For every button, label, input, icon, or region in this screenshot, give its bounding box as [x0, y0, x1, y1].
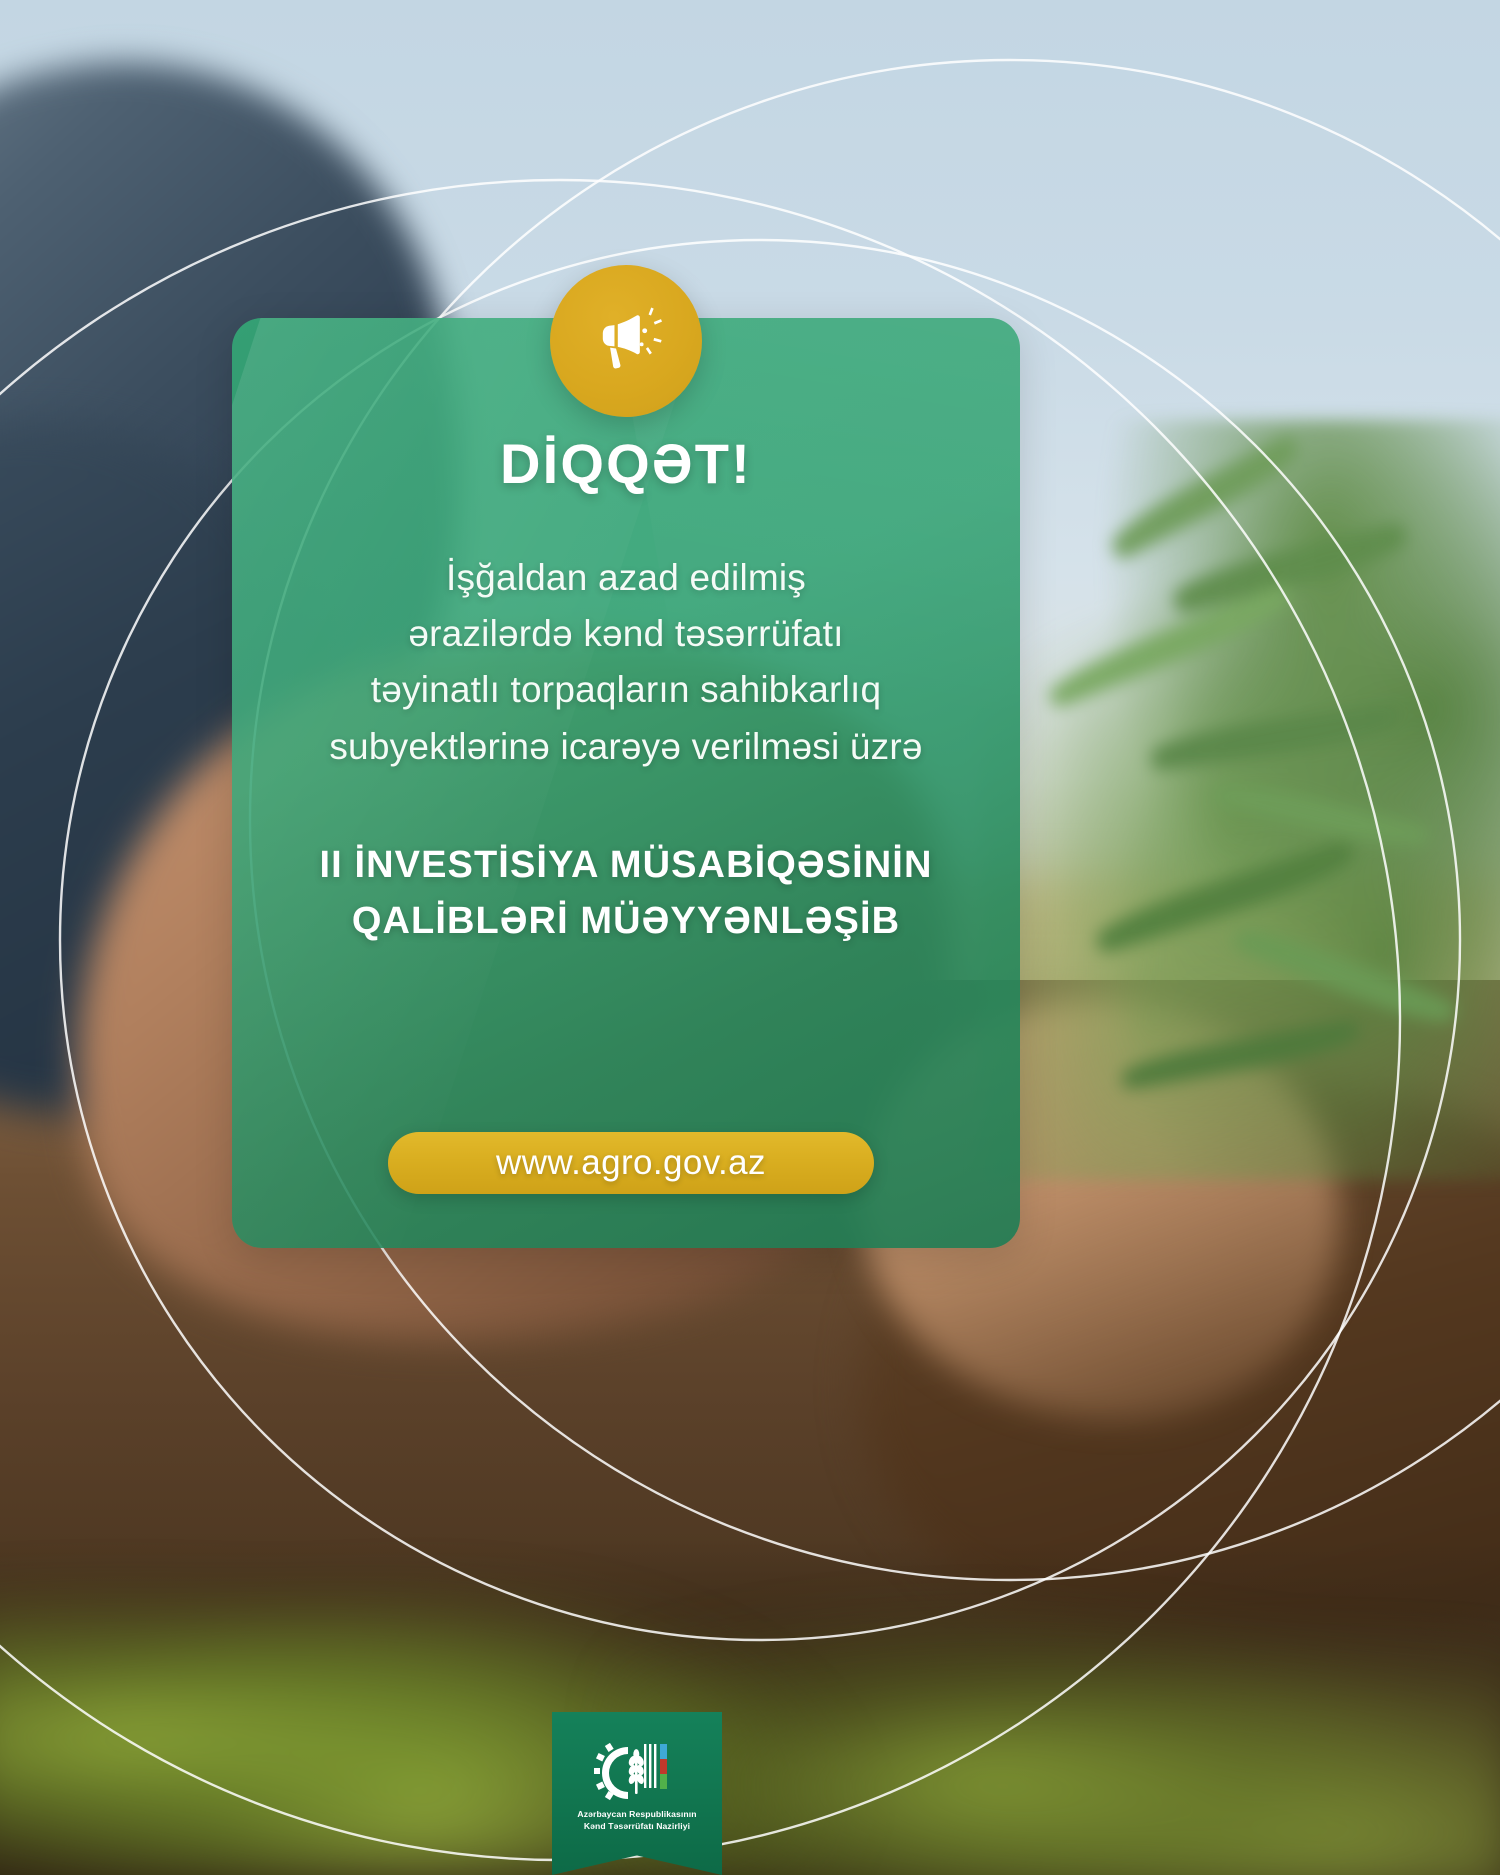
- megaphone-badge: [550, 265, 702, 417]
- body-line: İşğaldan azad edilmiş: [256, 550, 996, 606]
- announcement-headline: II İNVESTİSİYA MÜSABİQƏSİNİN QALİBLƏRİ M…: [256, 837, 996, 949]
- grass-right: [620, 1600, 1500, 1875]
- megaphone-icon: [585, 300, 667, 382]
- page-title: DİQQƏT!: [232, 436, 1020, 492]
- headline-line: QALİBLƏRİ MÜƏYYƏNLƏŞİB: [256, 893, 996, 949]
- headline-line: II İNVESTİSİYA MÜSABİQƏSİNİN: [256, 837, 996, 893]
- poster-canvas: DİQQƏT! İşğaldan azad edilmiş ərazilərdə…: [0, 0, 1500, 1875]
- logo-text: Azərbaycan Respublikasının Kənd Təsərrüf…: [552, 1808, 722, 1833]
- website-button-label: www.agro.gov.az: [496, 1143, 766, 1183]
- plant-foliage: [980, 420, 1500, 1180]
- website-button[interactable]: www.agro.gov.az: [388, 1132, 874, 1194]
- body-line: ərazilərdə kənd təsərrüfatı: [256, 606, 996, 662]
- ministry-logo: Azərbaycan Respublikasının Kənd Təsərrüf…: [552, 1712, 722, 1875]
- announcement-card: DİQQƏT! İşğaldan azad edilmiş ərazilərdə…: [232, 318, 1020, 1248]
- announcement-body: İşğaldan azad edilmiş ərazilərdə kənd tə…: [256, 550, 996, 775]
- body-line: təyinatlı torpaqların sahibkarlıq: [256, 662, 996, 718]
- logo-text-line1: Azərbaycan Respublikasının: [552, 1808, 722, 1820]
- body-line: subyektlərinə icarəyə verilməsi üzrə: [256, 719, 996, 775]
- logo-text-line2: Kənd Təsərrüfatı Nazirliyi: [552, 1820, 722, 1832]
- gear-wheat-flag-icon: [594, 1742, 680, 1804]
